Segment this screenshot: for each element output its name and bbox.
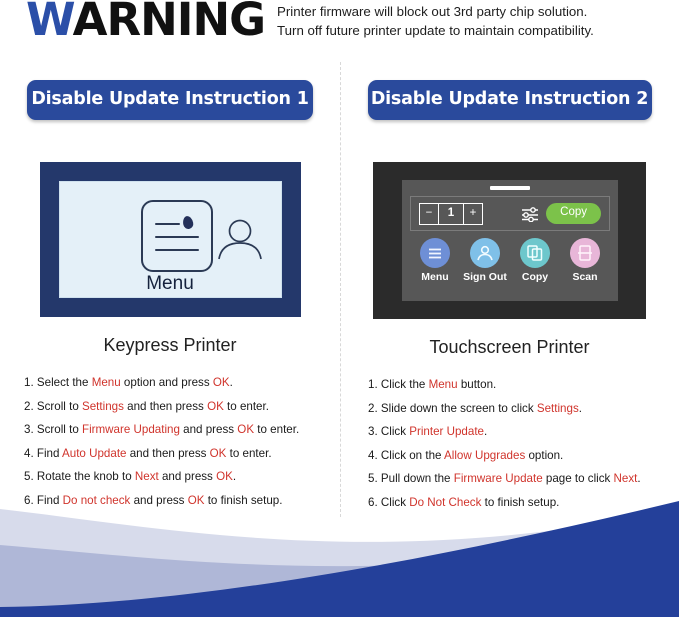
copy-button[interactable]: Copy bbox=[546, 203, 601, 224]
step-keyword: Do Not Check bbox=[409, 496, 481, 509]
app-label: Copy bbox=[510, 271, 560, 283]
app-menu[interactable]: Menu bbox=[410, 238, 460, 283]
keypress-steps-list: 1. Select the Menu option and press OK. … bbox=[0, 376, 340, 508]
step-item: 2. Slide down the screen to click Settin… bbox=[368, 402, 679, 416]
step-number: 3. bbox=[24, 423, 34, 436]
step-text: Scroll to bbox=[34, 423, 82, 436]
step-item: 5. Rotate the knob to Next and press OK. bbox=[24, 470, 340, 484]
step-text: and press bbox=[159, 470, 216, 483]
menu-line-2 bbox=[155, 236, 199, 238]
step-text: option. bbox=[525, 449, 563, 462]
step-number: 3. bbox=[368, 425, 378, 438]
step-text: option and press bbox=[121, 376, 213, 389]
step-item: 4. Find Auto Update and then press OK to… bbox=[24, 447, 340, 461]
step-keyword: Auto Update bbox=[62, 447, 126, 460]
step-text: . bbox=[233, 470, 236, 483]
step-keyword: OK bbox=[237, 423, 254, 436]
stepper-value: 1 bbox=[439, 204, 464, 224]
step-keyword: Printer Update bbox=[409, 425, 484, 438]
step-number: 6. bbox=[24, 494, 34, 507]
step-number: 5. bbox=[368, 472, 378, 485]
disable-update-instruction-1-button[interactable]: Disable Update Instruction 1 bbox=[27, 80, 313, 120]
step-text: to enter. bbox=[224, 400, 269, 413]
stepper-plus-button[interactable]: + bbox=[464, 204, 482, 224]
speaker-bar-icon bbox=[490, 186, 530, 190]
step-text: Rotate the knob to bbox=[34, 470, 135, 483]
step-keyword: OK bbox=[210, 447, 227, 460]
app-sign-out[interactable]: Sign Out bbox=[460, 238, 510, 283]
wave-light bbox=[0, 509, 679, 617]
warning-line-1: Printer firmware will block out 3rd part… bbox=[277, 2, 677, 21]
step-item: 4. Click on the Allow Upgrades option. bbox=[368, 449, 679, 463]
keypress-printer-screen: Menu bbox=[59, 181, 282, 298]
step-keyword: Menu bbox=[92, 376, 121, 389]
step-keyword: OK bbox=[188, 494, 205, 507]
step-keyword: Menu bbox=[429, 378, 458, 391]
app-scan[interactable]: Scan bbox=[560, 238, 610, 283]
copies-stepper[interactable]: − 1 + bbox=[419, 203, 483, 225]
step-keyword: Firmware Updating bbox=[82, 423, 180, 436]
menu-dot-icon bbox=[181, 215, 193, 230]
step-keyword: Settings bbox=[82, 400, 124, 413]
warning-description: Printer firmware will block out 3rd part… bbox=[277, 2, 677, 40]
keypress-printer-illustration: Menu bbox=[0, 162, 340, 317]
warning-line-2: Turn off future printer update to mainta… bbox=[277, 21, 677, 40]
step-item: 3. Scroll to Firmware Updating and press… bbox=[24, 423, 340, 437]
step-keyword: Firmware Update bbox=[454, 472, 543, 485]
scan-page-icon[interactable] bbox=[570, 238, 600, 268]
copy-pages-icon[interactable] bbox=[520, 238, 550, 268]
touchscreen-panel: − 1 + Copy bbox=[402, 180, 618, 301]
step-number: 4. bbox=[368, 449, 378, 462]
step-item: 3. Click Printer Update. bbox=[368, 425, 679, 439]
step-text: . bbox=[637, 472, 640, 485]
step-text: and press bbox=[130, 494, 187, 507]
app-label: Scan bbox=[560, 271, 610, 283]
step-item: 6. Find Do not check and press OK to fin… bbox=[24, 494, 340, 508]
app-copy[interactable]: Copy bbox=[510, 238, 560, 283]
person-icon bbox=[217, 218, 263, 260]
touchscreen-printer-illustration: − 1 + Copy bbox=[340, 162, 679, 319]
step-number: 6. bbox=[368, 496, 378, 509]
menu-line-3 bbox=[155, 249, 199, 251]
step-keyword: Next bbox=[135, 470, 159, 483]
step-text: to enter. bbox=[254, 423, 299, 436]
step-item: 1. Select the Menu option and press OK. bbox=[24, 376, 340, 390]
step-text: Scroll to bbox=[34, 400, 82, 413]
step-keyword: Allow Upgrades bbox=[444, 449, 525, 462]
step-item: 6. Click Do Not Check to finish setup. bbox=[368, 496, 679, 510]
touchscreen-steps-list: 1. Click the Menu button. 2. Slide down … bbox=[340, 378, 679, 510]
step-text: to finish setup. bbox=[204, 494, 282, 507]
step-keyword: Do not check bbox=[63, 494, 131, 507]
touchscreen-printer-caption: Touchscreen Printer bbox=[340, 337, 679, 358]
left-column: Disable Update Instruction 1 Menu bbox=[0, 70, 340, 517]
right-column: Disable Update Instruction 2 − 1 + bbox=[340, 70, 679, 519]
step-text: Click bbox=[378, 496, 410, 509]
app-label: Sign Out bbox=[460, 271, 510, 283]
step-text: and then press bbox=[124, 400, 207, 413]
step-number: 2. bbox=[368, 402, 378, 415]
app-label: Menu bbox=[410, 271, 460, 283]
step-text: Select the bbox=[34, 376, 92, 389]
step-text: . bbox=[230, 376, 233, 389]
step-item: 2. Scroll to Settings and then press OK … bbox=[24, 400, 340, 414]
step-text: button. bbox=[458, 378, 497, 391]
header: WARNING Printer firmware will block out … bbox=[0, 0, 679, 58]
step-text: Click bbox=[378, 425, 410, 438]
step-text: Find bbox=[34, 447, 62, 460]
page-title-rest: ARNING bbox=[73, 0, 265, 46]
step-number: 5. bbox=[24, 470, 34, 483]
disable-update-instruction-2-button[interactable]: Disable Update Instruction 2 bbox=[368, 80, 652, 120]
step-text: Find bbox=[34, 494, 63, 507]
step-item: 1. Click the Menu button. bbox=[368, 378, 679, 392]
step-keyword: Settings bbox=[537, 402, 579, 415]
keypress-printer-caption: Keypress Printer bbox=[0, 335, 340, 356]
step-keyword: Next bbox=[614, 472, 638, 485]
step-text: Slide down the screen to click bbox=[378, 402, 537, 415]
stepper-minus-button[interactable]: − bbox=[420, 204, 439, 224]
step-keyword: OK bbox=[207, 400, 224, 413]
step-keyword: OK bbox=[216, 470, 233, 483]
step-text: Pull down the bbox=[378, 472, 454, 485]
step-text: and then press bbox=[127, 447, 210, 460]
keypress-printer-device: Menu bbox=[40, 162, 301, 317]
touchscreen-app-row: Menu Sign Out bbox=[410, 238, 610, 283]
step-keyword: OK bbox=[213, 376, 230, 389]
page-title: WARNING bbox=[26, 0, 265, 46]
wave-mid bbox=[0, 531, 679, 617]
step-number: 1. bbox=[24, 376, 34, 389]
step-text: to finish setup. bbox=[481, 496, 559, 509]
step-text: . bbox=[484, 425, 487, 438]
sliders-icon[interactable] bbox=[520, 206, 540, 222]
hamburger-icon[interactable] bbox=[420, 238, 450, 268]
keypress-menu-label: Menu bbox=[60, 273, 281, 295]
person-icon[interactable] bbox=[470, 238, 500, 268]
step-text: and press bbox=[180, 423, 237, 436]
step-number: 2. bbox=[24, 400, 34, 413]
touchscreen-printer-device: − 1 + Copy bbox=[373, 162, 646, 319]
step-item: 5. Pull down the Firmware Update page to… bbox=[368, 472, 679, 486]
menu-line-1 bbox=[155, 223, 180, 225]
step-text: Click on the bbox=[378, 449, 444, 462]
touchscreen-toolbar: − 1 + Copy bbox=[410, 196, 610, 231]
step-text: . bbox=[579, 402, 582, 415]
step-text: Click the bbox=[378, 378, 429, 391]
step-text: to enter. bbox=[226, 447, 271, 460]
warning-infographic: WARNING Printer firmware will block out … bbox=[0, 0, 679, 617]
menu-lines-icon bbox=[141, 200, 213, 272]
step-text: page to click bbox=[543, 472, 614, 485]
step-number: 4. bbox=[24, 447, 34, 460]
step-number: 1. bbox=[368, 378, 378, 391]
page-title-initial: W bbox=[26, 0, 73, 46]
